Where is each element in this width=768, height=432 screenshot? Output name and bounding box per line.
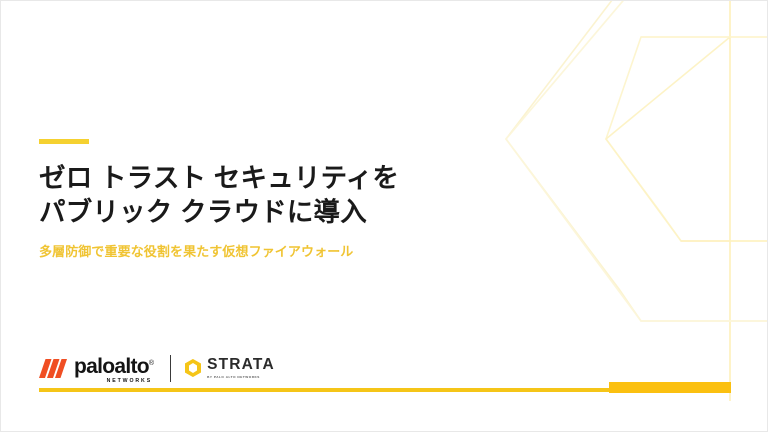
- inner-hexagon-outline: [606, 37, 768, 241]
- outer-chevron-edge: [506, 1, 768, 321]
- paloalto-networks-mark: [39, 359, 67, 378]
- inner-hexagon-edge-upper: [606, 37, 730, 241]
- paloalto-networks-logo: paloalto® NETWORKS: [39, 353, 154, 384]
- title-slide: ゼロ トラスト セキュリティを パブリック クラウドに導入 多層防御で重要な役割…: [0, 0, 768, 432]
- paloalto-wordmark: paloalto®: [74, 353, 154, 377]
- paloalto-wordmark-wrap: paloalto® NETWORKS: [74, 353, 154, 384]
- bottom-accent-bar-thick: [609, 382, 731, 393]
- strata-tagline: BY PALO ALTO NETWORKS: [207, 375, 260, 379]
- page-subtitle: 多層防御で重要な役割を果たす仮想ファイアウォール: [39, 243, 469, 261]
- paloalto-wordmark-text: paloalto: [74, 355, 149, 378]
- paloalto-networks-subtext: NETWORKS: [107, 378, 152, 384]
- logo-divider: [170, 355, 171, 382]
- strata-text-wrap: STRATA BY PALO ALTO NETWORKS: [207, 357, 275, 379]
- accent-dash: [39, 139, 89, 144]
- strata-hexagon-mark: [185, 359, 201, 377]
- logo-lockup: paloalto® NETWORKS STRATA BY PALO ALTO N…: [39, 353, 275, 383]
- strata-wordmark: STRATA: [207, 357, 275, 373]
- headline-block: ゼロ トラスト セキュリティを パブリック クラウドに導入 多層防御で重要な役割…: [39, 139, 469, 261]
- registered-trademark-icon: ®: [149, 360, 154, 367]
- outer-chevron-outline: [506, 1, 768, 321]
- strata-logo: STRATA BY PALO ALTO NETWORKS: [185, 357, 275, 379]
- page-title-line-1: ゼロ トラスト セキュリティを: [39, 161, 469, 195]
- page-title-line-2: パブリック クラウドに導入: [39, 195, 469, 229]
- bottom-accent-bar-thin: [39, 388, 609, 392]
